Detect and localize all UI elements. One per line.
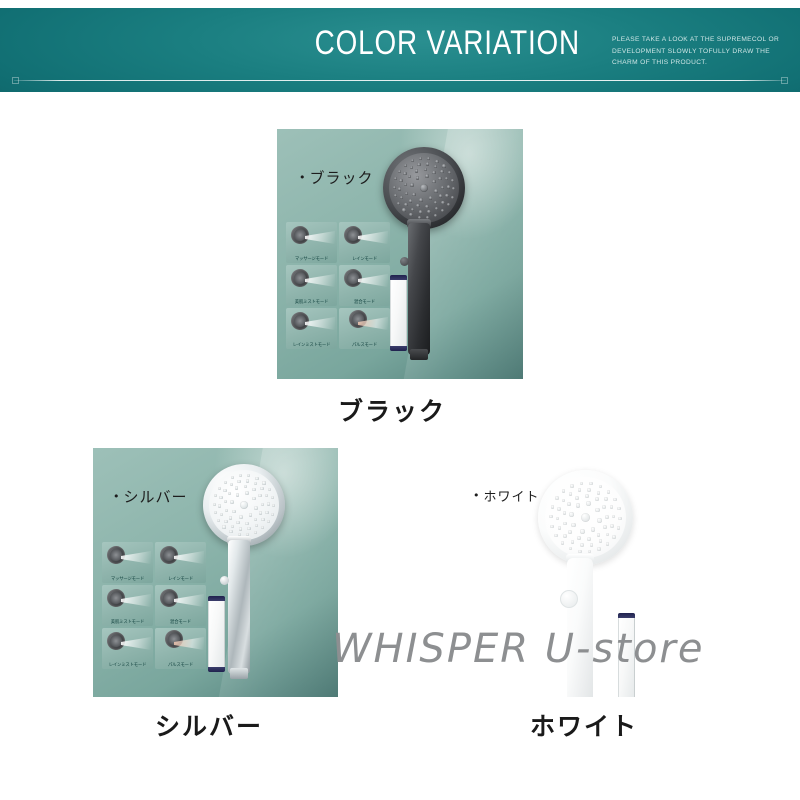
nozzle-dot [268, 488, 271, 491]
nozzle-dot [214, 494, 217, 497]
nozzle-dot [424, 168, 427, 171]
nozzle-dot [558, 526, 562, 530]
mode-thumbnail-image [286, 265, 337, 293]
nozzle-dot [394, 194, 397, 197]
water-spray-icon [305, 317, 335, 330]
nozzle-dot [412, 193, 416, 197]
variant-inline-label-silver: •シルバー [113, 486, 188, 507]
nozzle-dot [398, 187, 401, 190]
nozzle-dot [213, 503, 216, 506]
nozzle-dot [236, 521, 239, 524]
nozzle-dot [580, 543, 584, 547]
nozzle-dot [410, 166, 413, 169]
nozzle-dot [435, 207, 438, 210]
nozzle-dot [555, 496, 559, 500]
shower-head-icon [342, 267, 365, 290]
nozzle-dot [228, 492, 231, 495]
nozzle-dot [578, 488, 582, 492]
nozzle-dot [271, 496, 274, 499]
nozzle-dot [612, 535, 616, 539]
mode-thumbnail-grid-silver: マッサージモード レインモード 美肌ミストモード [102, 542, 206, 669]
nozzle-dot [217, 519, 220, 522]
nozzle-dot [617, 507, 621, 511]
nozzle-dot [599, 485, 603, 489]
nozzle-dot [231, 525, 234, 528]
nozzle-dot [408, 175, 411, 178]
nozzle-dot [245, 491, 249, 495]
mode-tile[interactable]: レインモード [155, 542, 206, 583]
nozzle-dot [606, 542, 610, 546]
nozzle-dot [419, 210, 422, 213]
nozzle-dot [599, 539, 603, 543]
mode-label: 美肌ミストモード [103, 619, 151, 625]
nozzle-dot [549, 515, 553, 519]
nozzle-dot [236, 493, 240, 497]
nozzle-dot [603, 525, 607, 529]
nozzle-dot [581, 513, 590, 522]
nozzle-dot [569, 492, 573, 496]
nozzle-dot [550, 525, 554, 529]
nozzle-dot [252, 497, 256, 501]
filter-cartridge-silver [208, 596, 225, 672]
water-spray-icon [121, 637, 151, 650]
nozzle-dot [440, 170, 443, 173]
mode-tile[interactable]: マッサージモード [102, 542, 153, 583]
nozzle-dot [420, 184, 428, 192]
nozzle-dot [218, 504, 221, 507]
mode-thumbnail-image [155, 585, 206, 613]
nozzle-dot [605, 515, 609, 519]
nozzle-dot [404, 203, 407, 206]
nozzle-dot [260, 487, 263, 490]
nozzle-dot [610, 524, 614, 528]
variant-caption-black: ブラック [338, 392, 446, 428]
nozzle-dot [254, 531, 257, 534]
nozzle-dot [434, 214, 437, 217]
nozzle-dot [247, 474, 250, 477]
variant-panel-black: •ブラック マッサージモード レインモード [277, 129, 523, 379]
nozzle-dot [447, 203, 450, 206]
nozzle-dot [245, 522, 248, 525]
nozzle-dot [580, 529, 584, 533]
mode-thumbnail-image [102, 628, 153, 656]
nozzle-dot [402, 208, 405, 211]
nozzle-dot [445, 177, 448, 180]
nozzle-dot [606, 533, 610, 537]
nozzle-dot [254, 506, 258, 510]
nozzle-dot [415, 169, 418, 172]
header-caption: PLEASE TAKE A LOOK AT THE SUPREMECOL OR … [612, 34, 792, 69]
nozzle-dot [252, 488, 255, 491]
mode-label: 美肌ミストモード [287, 299, 335, 305]
mode-thumbnail-image [155, 628, 206, 656]
nozzle-dot [410, 183, 414, 187]
nozzle-dot [240, 501, 248, 509]
mode-label: レインミストモード [287, 342, 335, 348]
nozzle-dot [254, 518, 257, 521]
mode-label: レインモード [156, 576, 204, 582]
water-spray-icon [174, 594, 204, 607]
shower-head-icon [158, 544, 181, 567]
nozzle-dot [554, 534, 558, 538]
nozzle-dot [411, 159, 414, 162]
header-banner: COLOR VARIATION PLEASE TAKE A LOOK AT TH… [0, 8, 800, 92]
mode-tile[interactable]: レインミストモード [102, 628, 153, 669]
shower-head-icon [289, 267, 312, 290]
bullet-icon: • [299, 171, 307, 184]
nozzle-dot [218, 487, 221, 490]
nozzle-dot [232, 510, 236, 514]
shower-handle [408, 223, 430, 355]
nozzle-dot [570, 484, 574, 488]
nozzle-dot [569, 547, 573, 551]
nozzle-dot [261, 526, 264, 529]
nozzle-dot [419, 198, 423, 202]
hose-connector [230, 668, 248, 679]
mode-switch-button-icon [560, 590, 578, 608]
nozzle-dot [399, 179, 402, 182]
nozzle-dot [220, 513, 223, 516]
nozzle-dot [451, 196, 454, 199]
water-spray-icon [305, 231, 335, 244]
shower-head-nozzles [389, 153, 459, 223]
nozzle-dot [425, 205, 428, 208]
cartridge-body [390, 280, 407, 346]
nozzle-dot [267, 502, 270, 505]
nozzle-dot [219, 496, 222, 499]
nozzle-dot [568, 530, 572, 534]
nozzle-dot [398, 170, 401, 173]
nozzle-dot [432, 171, 435, 174]
nozzle-dot [224, 520, 227, 523]
nozzle-dot [261, 503, 264, 506]
mode-label: レインミストモード [103, 662, 151, 668]
nozzle-dot [571, 523, 575, 527]
mode-thumbnail-grid-black: マッサージモード レインモード 美肌ミストモード [286, 222, 390, 349]
nozzle-dot [575, 496, 579, 500]
nozzle-dot [439, 194, 442, 197]
nozzle-dot [562, 489, 566, 493]
nozzle-dot [429, 196, 433, 200]
cartridge-body [208, 601, 225, 667]
nozzle-dot [561, 541, 565, 545]
nozzle-dot [229, 530, 232, 533]
mode-label: レインモード [340, 256, 388, 262]
filter-cartridge-white [618, 613, 635, 697]
shower-head-icon [163, 628, 186, 650]
variant-caption-silver: シルバー [155, 707, 263, 743]
variant-panel-white: •ホワイト [443, 448, 713, 697]
shower-head-icon [105, 544, 128, 567]
variant-inline-label-white-text: ホワイト [484, 490, 540, 505]
shower-head-icon [347, 308, 370, 330]
bullet-icon: • [473, 489, 481, 502]
variant-inline-label-white: •ホワイト [473, 486, 540, 505]
nozzle-dot [557, 507, 561, 511]
nozzle-dot [255, 477, 258, 480]
nozzle-dot [419, 157, 422, 160]
variant-panel-silver: •シルバー マッサージモード レインモード [93, 448, 338, 697]
mode-label: パルスモード [156, 662, 204, 668]
nozzle-dot [563, 522, 567, 526]
nozzle-dot [400, 196, 403, 199]
nozzle-dot [587, 488, 591, 492]
nozzle-dot [409, 213, 412, 216]
nozzle-dot [239, 515, 243, 519]
nozzle-dot [404, 164, 407, 167]
mode-tile[interactable]: 美肌ミストモード [102, 585, 153, 626]
nozzle-dot [224, 481, 227, 484]
water-spray-icon [305, 274, 335, 287]
nozzle-dot [405, 192, 408, 195]
nozzle-dot [597, 547, 601, 551]
nozzle-dot [610, 505, 614, 509]
mode-label: 混合モード [340, 299, 388, 305]
nozzle-dot [590, 543, 594, 547]
nozzle-dot [393, 186, 396, 189]
nozzle-dot [563, 511, 567, 515]
nozzle-dot [246, 479, 249, 482]
nozzle-dot [416, 204, 419, 207]
nozzle-dot [224, 500, 227, 503]
cartridge-cap-bottom [208, 667, 225, 672]
nozzle-dot [597, 518, 601, 522]
nozzle-dot [613, 498, 617, 502]
nozzle-dot [562, 499, 566, 503]
nozzle-dot [231, 476, 234, 479]
nozzle-dot [427, 157, 430, 160]
nozzle-dot [445, 194, 448, 197]
nozzle-dot [602, 505, 606, 509]
nozzle-dot [229, 516, 232, 519]
nozzle-dot [617, 526, 621, 530]
filter-cartridge-black [390, 275, 407, 351]
water-spray-icon [121, 594, 151, 607]
nozzle-dot [595, 497, 599, 501]
nozzle-dot [597, 491, 601, 495]
nozzle-dot [254, 482, 257, 485]
mode-switch-button-icon [220, 576, 229, 585]
nozzle-dot [576, 503, 580, 507]
nozzle-dot [563, 534, 567, 538]
nozzle-dot [272, 504, 275, 507]
nozzle-dot [434, 189, 438, 193]
mode-label: 混合モード [156, 619, 204, 625]
nozzle-dot [441, 209, 444, 212]
nozzle-dot [244, 485, 247, 488]
nozzle-dot [597, 533, 601, 537]
nozzle-dot [578, 550, 582, 554]
mode-thumbnail-image [102, 542, 153, 570]
water-spray-icon [121, 551, 151, 564]
nozzle-dot [442, 164, 445, 167]
nozzle-dot [222, 525, 225, 528]
cartridge-body [618, 618, 635, 697]
variant-inline-label-black: •ブラック [299, 167, 374, 188]
nozzle-dot [556, 517, 560, 521]
nozzle-dot [255, 524, 258, 527]
shower-head-icon [105, 630, 128, 653]
nozzle-dot [237, 480, 240, 483]
nozzle-dot [618, 517, 622, 521]
nozzle-dot [589, 482, 593, 486]
shower-handle [228, 540, 250, 674]
nozzle-dot [230, 500, 234, 504]
nozzle-dot [612, 515, 616, 519]
nozzle-dot [426, 162, 429, 165]
header-divider [14, 80, 786, 81]
nozzle-dot [586, 501, 590, 505]
nozzle-dot [403, 172, 406, 175]
product-color-variation-page: COLOR VARIATION PLEASE TAKE A LOOK AT TH… [0, 0, 800, 800]
nozzle-dot [404, 183, 407, 186]
nozzle-dot [580, 482, 584, 486]
mode-thumbnail-image [102, 585, 153, 613]
nozzle-dot [434, 201, 437, 204]
mode-thumbnail-image [286, 222, 337, 250]
nozzle-dot [271, 513, 274, 516]
nozzle-dot [259, 511, 262, 514]
shower-head-icon [342, 224, 365, 247]
mode-label: マッサージモード [103, 576, 151, 582]
nozzle-dot [595, 508, 599, 512]
nozzle-dot [394, 177, 397, 180]
nozzle-dot [416, 176, 420, 180]
bullet-icon: • [113, 490, 121, 503]
variant-inline-label-silver-text: シルバー [124, 488, 188, 506]
nozzle-dot [447, 185, 450, 188]
mode-tile[interactable]: 混合モード [155, 585, 206, 626]
nozzle-dot [571, 540, 575, 544]
nozzle-dot [239, 527, 242, 530]
nozzle-dot [247, 527, 250, 530]
mode-thumbnail-image [155, 542, 206, 570]
nozzle-dot [409, 199, 412, 202]
nozzle-dot [588, 550, 592, 554]
nozzle-dot [258, 494, 261, 497]
shower-head-icon [289, 310, 312, 333]
nozzle-dot [214, 511, 217, 514]
water-spray-icon [174, 551, 204, 564]
mode-tile[interactable]: 美肌ミストモード [286, 265, 337, 306]
nozzle-dot [587, 537, 591, 541]
nozzle-dot [451, 179, 454, 182]
nozzle-dot [441, 201, 444, 204]
nozzle-dot [435, 160, 438, 163]
nozzle-dot [577, 536, 581, 540]
nozzle-dot [441, 186, 444, 189]
nozzle-dot [397, 202, 400, 205]
cartridge-cap-bottom [390, 346, 407, 351]
nozzle-dot [567, 502, 571, 506]
nozzle-dot [604, 497, 608, 501]
nozzle-dot [448, 171, 451, 174]
nozzle-dot [230, 483, 233, 486]
nozzle-dot [452, 187, 455, 190]
nozzle-dot [432, 180, 436, 184]
nozzle-dot [261, 518, 264, 521]
nozzle-dot [223, 489, 226, 492]
nozzle-dot [262, 481, 265, 484]
nozzle-dot [265, 494, 268, 497]
nozzle-dot [267, 520, 270, 523]
nozzle-dot [417, 163, 420, 166]
mode-thumbnail-image [286, 308, 337, 336]
nozzle-dot [265, 511, 268, 514]
nozzle-dot [239, 474, 242, 477]
page-title: COLOR VARIATION [104, 24, 580, 63]
variant-inline-label-black-text: ブラック [310, 169, 374, 187]
nozzle-dot [434, 165, 437, 168]
mode-tile[interactable]: パルスモード [155, 628, 206, 669]
mode-tile[interactable]: レインミストモード [286, 308, 337, 349]
nozzle-dot [569, 512, 573, 516]
variant-caption-white: ホワイト [530, 707, 638, 743]
nozzle-dot [235, 486, 238, 489]
mode-label: パルスモード [340, 342, 388, 348]
nozzle-dot [585, 494, 589, 498]
nozzle-dot [427, 210, 430, 213]
shower-head-nozzles [209, 470, 279, 540]
nozzle-dot [551, 505, 555, 509]
nozzle-dot [425, 174, 429, 178]
shower-handle [567, 558, 593, 697]
mode-switch-button-icon [400, 257, 409, 266]
nozzle-dot [438, 177, 441, 180]
nozzle-dot [249, 513, 253, 517]
mode-label: マッサージモード [287, 256, 335, 262]
nozzle-dot [225, 509, 228, 512]
shower-head-icon [158, 587, 181, 610]
nozzle-dot [591, 527, 595, 531]
shower-head-nozzles [545, 477, 626, 558]
shower-head-icon [289, 224, 312, 247]
shower-head-icon [105, 587, 128, 610]
nozzle-dot [607, 490, 611, 494]
mode-tile[interactable]: マッサージモード [286, 222, 337, 263]
nozzle-dot [411, 208, 414, 211]
hose-connector [410, 349, 428, 360]
